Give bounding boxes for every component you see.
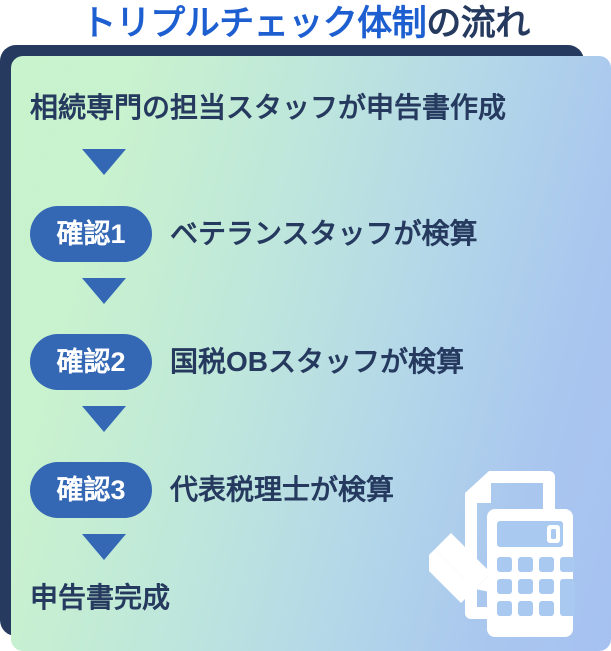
flow-step-3-badge: 確認3 <box>30 462 152 518</box>
flow-step-start-label: 相続専門の担当スタッフが申告書作成 <box>30 94 506 122</box>
page-title-main: トリプルチェック体制 <box>81 4 426 43</box>
arrow-down-icon-1 <box>82 149 126 175</box>
flow-panel: 相続専門の担当スタッフが申告書作成 確認1 ベテランスタッフが検算 確認2 国税… <box>11 56 611 651</box>
calculator-display-digit <box>547 525 560 543</box>
page-title: トリプルチェック体制の流れ <box>81 6 530 41</box>
flow-step-2-label: 国税OBスタッフが検算 <box>170 348 464 376</box>
calculator-display <box>497 521 563 547</box>
flow-step-2-badge: 確認2 <box>30 334 152 390</box>
flow-step-1: 確認1 ベテランスタッフが検算 <box>11 206 611 262</box>
calculator-body <box>487 509 573 637</box>
flow-step-start: 相続専門の担当スタッフが申告書作成 <box>11 94 611 122</box>
title-area: トリプルチェック体制の流れ <box>0 0 611 46</box>
page-title-sub: の流れ <box>426 4 530 43</box>
flow-step-1-label: ベテランスタッフが検算 <box>170 220 477 248</box>
arrow-down-icon-3 <box>82 406 126 432</box>
arrow-down-icon-4 <box>82 534 126 560</box>
flow-step-3-label: 代表税理士が検算 <box>170 476 394 504</box>
flow-step-2: 確認2 国税OBスタッフが検算 <box>11 334 611 390</box>
calculator-key-top-right <box>560 557 575 572</box>
calculator-display-digit-inner <box>551 529 556 539</box>
arrow-down-icon-2 <box>82 278 126 304</box>
flow-step-end-label: 申告書完成 <box>30 584 170 612</box>
flow-step-1-badge: 確認1 <box>30 206 152 262</box>
flow-step-3: 確認3 代表税理士が検算 <box>11 462 611 518</box>
flow-step-end: 申告書完成 <box>11 584 611 612</box>
